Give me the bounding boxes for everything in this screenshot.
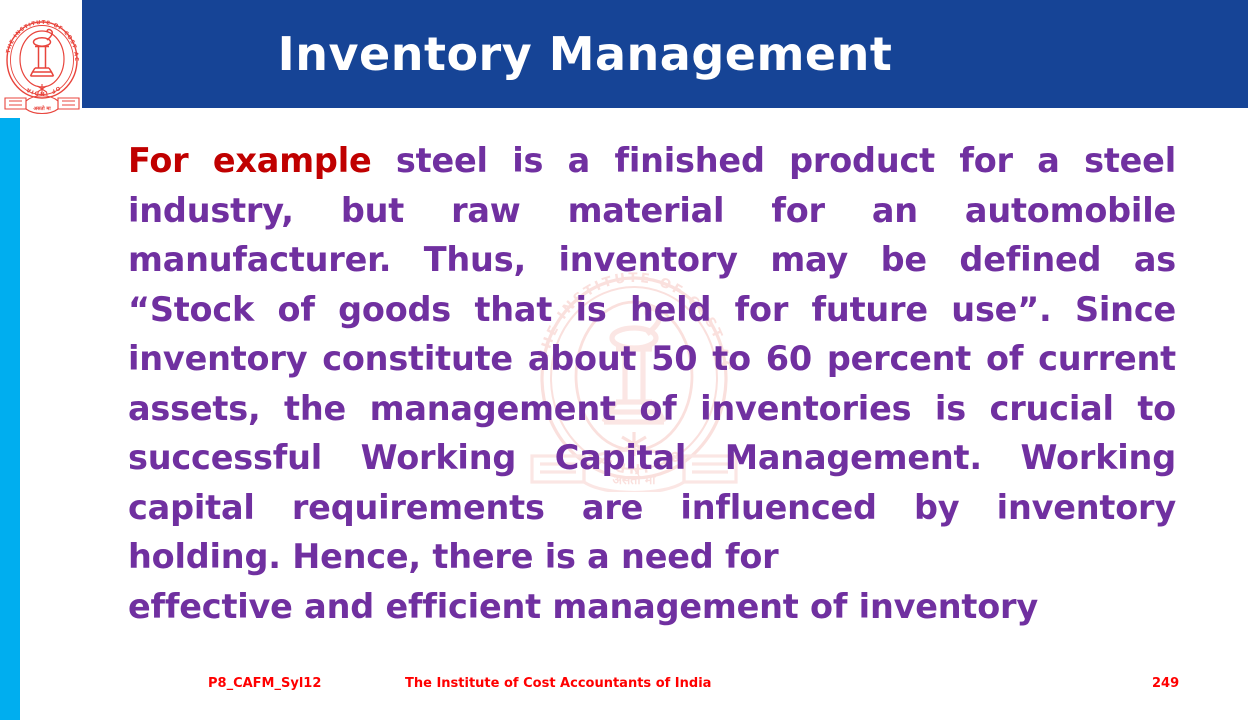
slide-header-band: Inventory Management <box>82 0 1248 108</box>
svg-text:असतो मा: असतो मा <box>33 105 51 112</box>
page-title: Inventory Management <box>82 0 1248 108</box>
institute-seal-icon: THE INSTITUTE OF COST ACCOUNTANTS OF IND… <box>2 2 82 116</box>
body-paragraph: steel is a finished product for a steel … <box>128 141 1176 576</box>
slide-footer: P8_CAFM_Syl12 The Institute of Cost Acco… <box>0 676 1248 702</box>
slide-body-text: For example steel is a finished product … <box>128 136 1176 631</box>
svg-text:THE INSTITUTE OF COST ACCOUNTA: THE INSTITUTE OF COST ACCOUNTANTS <box>2 2 79 62</box>
footer-page-number: 249 <box>1152 676 1179 691</box>
body-lead-phrase: For example <box>128 141 372 180</box>
institute-logo: THE INSTITUTE OF COST ACCOUNTANTS OF IND… <box>2 2 82 116</box>
footer-institute-name: The Institute of Cost Accountants of Ind… <box>405 676 711 691</box>
left-accent-bar <box>0 118 20 720</box>
presentation-slide: THE INSTITUTE OF COST ACCOUNTANTS OF IND… <box>0 0 1248 720</box>
footer-course-code: P8_CAFM_Syl12 <box>208 676 321 691</box>
body-last-line: effective and efficient management of in… <box>128 582 1176 632</box>
